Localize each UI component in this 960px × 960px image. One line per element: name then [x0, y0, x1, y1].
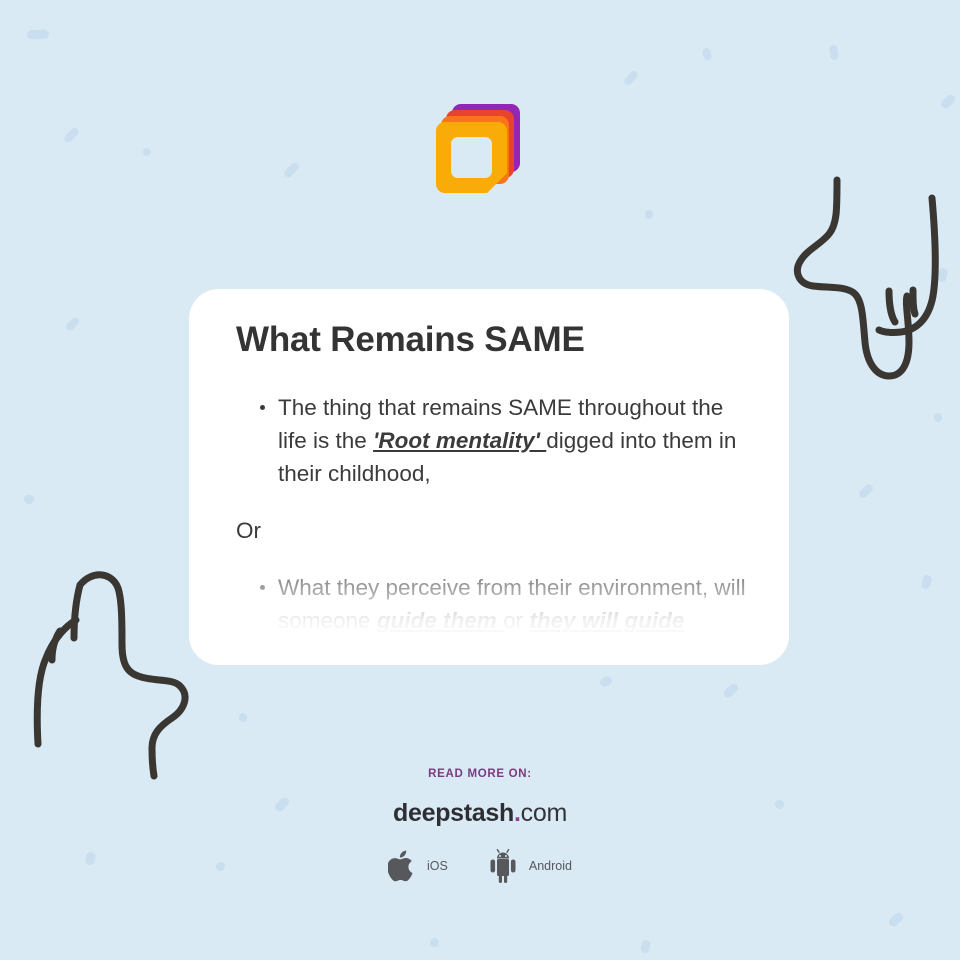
emphasised-phrase: guide them	[377, 608, 503, 633]
hand-pointing-line-art-top-right	[785, 172, 960, 387]
confetti-dash	[645, 210, 654, 220]
idea-connector-text: Or	[236, 514, 749, 547]
confetti-dash	[937, 267, 949, 283]
idea-bullet: What they perceive from their environmen…	[236, 571, 749, 637]
page-title: What Remains SAME	[236, 319, 749, 361]
emphasised-phrase: 'Root mentality'	[373, 428, 546, 453]
confetti-dash	[27, 30, 49, 40]
android-icon	[486, 848, 520, 884]
confetti-dash	[857, 483, 874, 500]
android-store-badge[interactable]: Android	[486, 848, 572, 884]
confetti-dash	[599, 675, 614, 688]
body-text: or	[503, 608, 529, 633]
idea-bullet: The thing that remains SAME throughout t…	[236, 391, 749, 490]
confetti-dash	[64, 316, 80, 332]
apple-icon	[388, 848, 418, 884]
brand-logo	[0, 104, 960, 198]
emphasised-phrase: they will guide	[529, 608, 684, 633]
wordmark-dot: .	[514, 799, 521, 827]
android-label: Android	[529, 859, 572, 873]
confetti-dash	[702, 47, 713, 61]
read-more-label: READ MORE ON:	[0, 768, 960, 780]
poster-canvas: What Remains SAME The thing that remains…	[0, 0, 960, 960]
confetti-dash	[722, 682, 740, 700]
confetti-dash	[640, 939, 651, 953]
footer: READ MORE ON: deepstash.com iOS	[0, 768, 960, 884]
idea-card: What Remains SAME The thing that remains…	[189, 289, 789, 665]
hand-pointing-line-art-bottom-left	[22, 558, 202, 783]
ios-label: iOS	[427, 859, 448, 873]
app-store-badges: iOS Android	[0, 848, 960, 884]
deepstash-wordmark[interactable]: deepstash.com	[0, 799, 960, 828]
ios-store-badge[interactable]: iOS	[388, 848, 448, 884]
wordmark-tld: com	[521, 799, 567, 827]
confetti-dash	[239, 713, 247, 722]
confetti-dash	[430, 938, 439, 947]
confetti-dash	[934, 413, 942, 422]
body-text: Or	[236, 518, 261, 543]
confetti-dash	[829, 44, 839, 60]
wordmark-name: deepstash	[393, 799, 514, 827]
confetti-dash	[887, 911, 905, 929]
confetti-dash	[24, 495, 34, 504]
logo-inner-cutout	[451, 137, 492, 178]
idea-bullet-list: The thing that remains SAME throughout t…	[236, 391, 749, 637]
confetti-dash	[623, 69, 640, 86]
confetti-dash	[920, 574, 932, 590]
